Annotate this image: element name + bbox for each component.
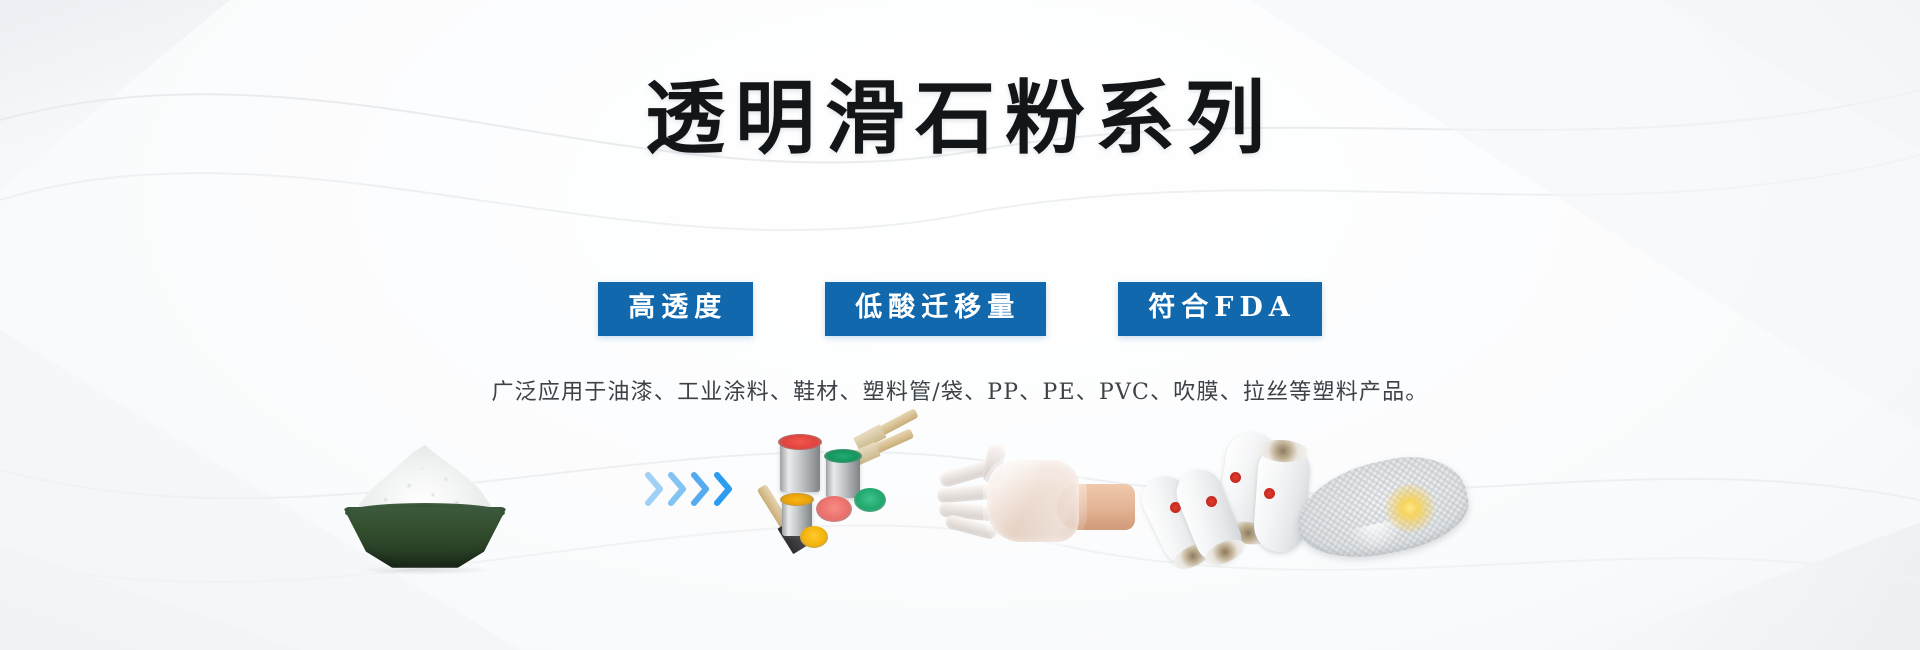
badge-fda-compliant: 符合FDA (1118, 282, 1322, 336)
badge-low-acid-migration: 低酸迁移量 (825, 282, 1046, 336)
paint-lid-yellow (780, 493, 814, 506)
application-subtitle: 广泛应用于油漆、工业涂料、鞋材、塑料管/袋、PP、PE、PVC、吹膜、拉丝等塑料… (0, 374, 1920, 406)
shoe-sole-glow (1384, 484, 1436, 532)
talc-powder-bowl-image (335, 445, 515, 570)
green-bowl (343, 507, 507, 569)
feature-badge-group: 高透度 低酸迁移量 符合FDA (0, 282, 1920, 336)
chevron-right-icon (714, 472, 734, 506)
product-banner: 透明滑石粉系列 高透度 低酸迁移量 符合FDA 广泛应用于油漆、工业涂料、鞋材、… (0, 0, 1920, 650)
process-arrows (645, 472, 734, 506)
paint-lid-pink (816, 496, 852, 522)
paint-lid-green-loose (854, 488, 886, 512)
paint-lid-red (778, 434, 822, 450)
chevron-right-icon (645, 472, 665, 506)
illustration-strip (0, 430, 1920, 610)
chevron-right-icon (668, 472, 688, 506)
paint-lid-green (824, 449, 862, 463)
paint-cans-image (768, 432, 948, 582)
film-rolls-image (1118, 430, 1313, 582)
glove-highlight (983, 456, 1087, 548)
paint-lid-yellow-loose (800, 526, 828, 548)
chevron-right-icon (691, 472, 711, 506)
film-roll-mark (1230, 472, 1241, 483)
plastic-glove-hand-image (935, 438, 1135, 573)
shoe-sole-image (1288, 438, 1478, 578)
bowl-drop-shadow (357, 565, 493, 575)
film-roll-mark (1264, 488, 1275, 499)
shoe-sole-body (1288, 445, 1475, 571)
badge-high-transparency: 高透度 (598, 282, 753, 336)
film-roll-mark (1206, 496, 1217, 507)
page-title: 透明滑石粉系列 (0, 78, 1920, 158)
